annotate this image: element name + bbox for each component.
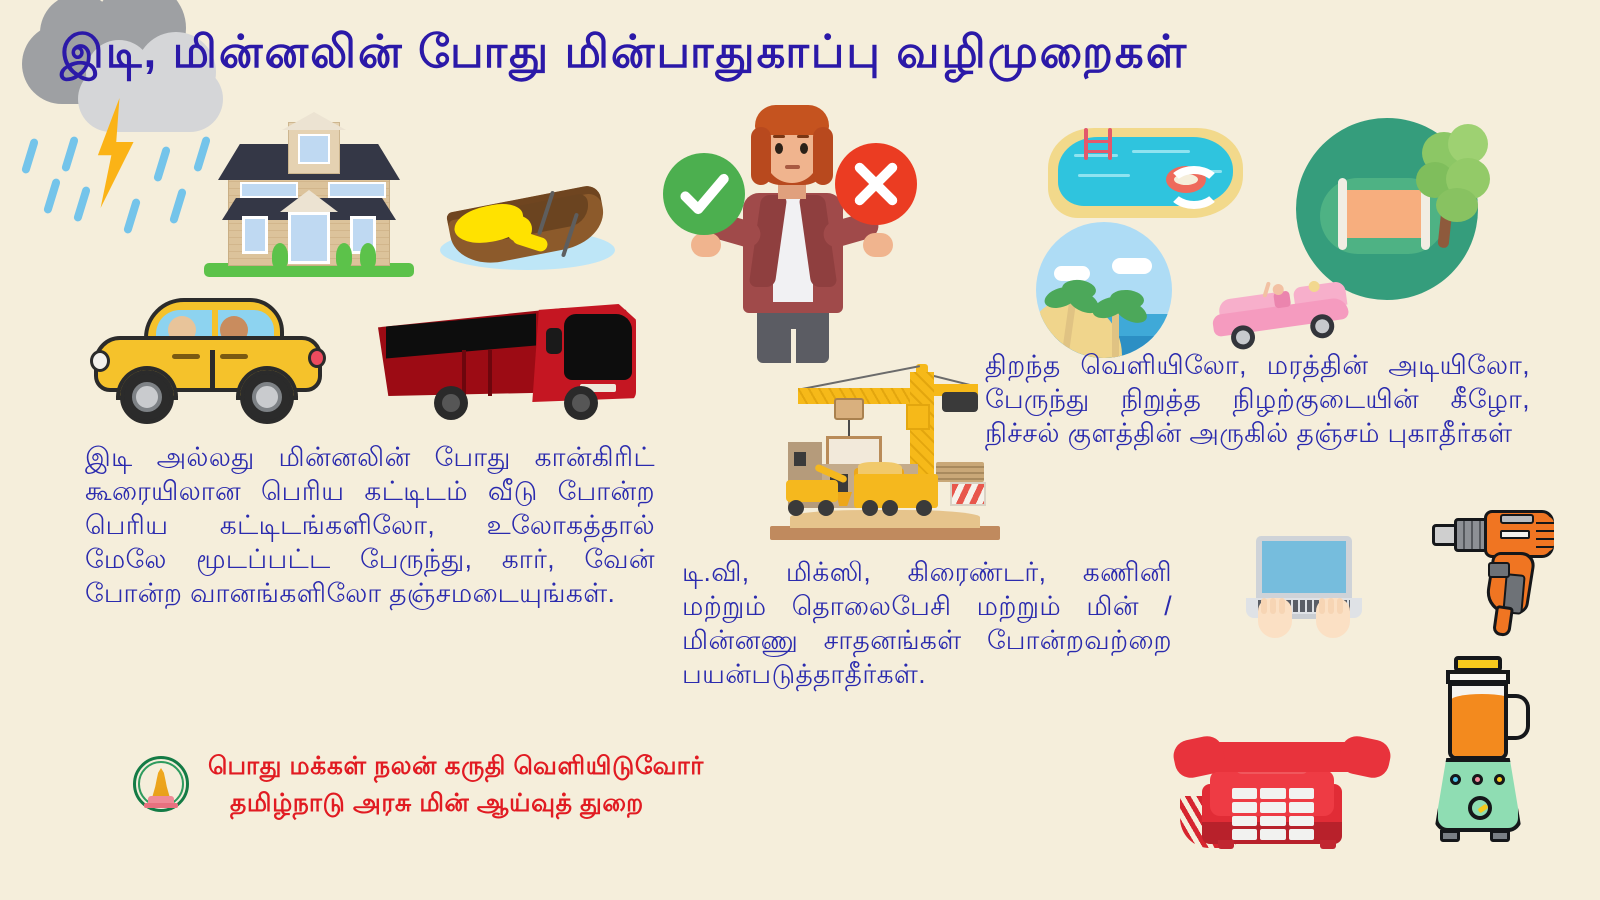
excavator-body xyxy=(786,480,838,502)
phone-key xyxy=(1289,829,1314,840)
rowboat-illustration xyxy=(440,178,615,278)
finger xyxy=(1270,598,1276,614)
raindrop xyxy=(43,178,61,215)
bush xyxy=(272,243,288,269)
hand-right xyxy=(1316,598,1350,638)
crane-tie-front xyxy=(802,365,920,390)
finger xyxy=(1261,598,1267,614)
building-window xyxy=(794,452,806,466)
excavator-track-wheel xyxy=(788,500,804,516)
construction-site-illustration xyxy=(770,358,1000,540)
phone-foot xyxy=(1218,840,1234,849)
woman-hair-side-left xyxy=(751,127,771,185)
dormer-window xyxy=(298,134,330,164)
woman-eyebrow-right xyxy=(797,135,809,138)
bush xyxy=(360,243,376,269)
red-bus-illustration xyxy=(378,298,640,420)
blender-illustration xyxy=(1420,656,1540,856)
bus-wheel-rear xyxy=(434,386,468,420)
blender-handle xyxy=(1504,694,1530,740)
pink-convertible-illustration xyxy=(1208,273,1351,353)
phone-key xyxy=(1260,829,1285,840)
footer: பொது மக்கள் நலன் கருதி வெளியிடுவோர் தமிழ… xyxy=(130,748,704,822)
shelter-canopy xyxy=(1338,190,1430,238)
truck-wheel xyxy=(882,500,898,516)
finger xyxy=(1337,598,1343,614)
footer-line-1: பொது மக்கள் நலன் கருதி வெளியிடுவோர் xyxy=(208,748,704,785)
swimming-pool-illustration xyxy=(1048,128,1243,218)
blender-knob xyxy=(1468,796,1492,820)
car-wheel-rear xyxy=(240,370,294,424)
material-stack xyxy=(936,462,984,482)
footer-text: பொது மக்கள் நலன் கருதி வெளியிடுவோர் தமிழ… xyxy=(208,748,704,822)
drill-vents xyxy=(1536,516,1554,552)
car-wheel-front xyxy=(120,370,174,424)
page-title: இடி, மின்னலின் போது மின்பாதுகாப்பு வழிமு… xyxy=(60,26,1560,84)
power-drill-illustration xyxy=(1432,500,1560,640)
drill-top-trim xyxy=(1500,514,1534,524)
bush xyxy=(336,243,352,269)
construction-ground xyxy=(770,526,1000,540)
window-left xyxy=(242,216,268,254)
beach-cloud xyxy=(1054,266,1090,281)
drill-cord-base xyxy=(1492,605,1514,637)
emblem-plinth xyxy=(144,803,178,808)
woman-eyebrow-left xyxy=(773,135,785,138)
check-circle-icon xyxy=(663,153,745,235)
dormer-roof xyxy=(282,112,346,130)
laptop-illustration xyxy=(1244,536,1364,636)
blender-foot xyxy=(1490,830,1510,842)
phone-key xyxy=(1232,829,1257,840)
woman-hair-side-right xyxy=(813,127,833,185)
bus-door-edge-right xyxy=(488,350,492,396)
telephone-illustration xyxy=(1174,718,1390,868)
beach-cloud xyxy=(1112,258,1152,274)
raindrop xyxy=(73,186,91,223)
tamil-nadu-emblem-icon xyxy=(130,749,192,821)
car-taillight xyxy=(308,348,326,368)
front-door xyxy=(288,212,330,264)
park-shelter-illustration xyxy=(1296,118,1478,300)
bus-wheel-front xyxy=(564,386,598,420)
blender-indicator xyxy=(1472,774,1483,785)
paragraph-shelter: இடி அல்லது மின்னலின் போது கான்கிரிட் கூர… xyxy=(85,440,655,610)
phone-key xyxy=(1289,788,1314,799)
truck-wheel xyxy=(862,500,878,516)
finger xyxy=(1279,598,1285,614)
drill-label xyxy=(1500,530,1530,539)
woman-hand-right xyxy=(863,233,893,257)
phone-key xyxy=(1289,802,1314,813)
blender-foot xyxy=(1440,830,1460,842)
car-headlight xyxy=(90,350,110,372)
phone-key xyxy=(1289,816,1314,827)
blender-indicator xyxy=(1494,774,1505,785)
phone-handset-mouthpiece xyxy=(1337,733,1394,781)
raindrop xyxy=(123,198,141,235)
phone-key xyxy=(1260,816,1285,827)
blender-jar xyxy=(1448,682,1508,760)
paragraph-avoid-appliances: டி.வி, மிக்ஸி, கிரைண்டர், கணினி மற்றும் … xyxy=(682,555,1172,691)
ladder-rail-left xyxy=(1084,128,1088,160)
phone-key xyxy=(1260,802,1285,813)
bus-mirror xyxy=(546,328,562,354)
car-door-handle-front xyxy=(172,354,200,359)
pool-ladder xyxy=(1084,128,1112,160)
ladder-step xyxy=(1084,150,1112,153)
upper-window-band-left xyxy=(240,182,298,198)
phone-key xyxy=(1232,788,1257,799)
crane-operator-cabin xyxy=(906,404,930,430)
truck-wheel xyxy=(916,500,932,516)
car-door-line xyxy=(210,350,215,392)
road-barrier xyxy=(950,482,986,506)
phone-keypad xyxy=(1232,788,1314,840)
excavator-track-wheel xyxy=(818,500,834,516)
car-door-handle-rear xyxy=(220,354,248,359)
woman-hand-left xyxy=(691,233,721,257)
laptop-screen xyxy=(1262,541,1346,593)
crane-counterweight xyxy=(942,392,978,412)
crane-hook-block xyxy=(834,398,864,420)
blender-base xyxy=(1434,758,1522,832)
cross-circle-icon xyxy=(835,143,917,225)
blender-indicator xyxy=(1450,774,1461,785)
pool-wave xyxy=(1078,174,1130,177)
raindrop xyxy=(169,188,187,225)
drill-chuck xyxy=(1454,518,1488,552)
poster-canvas: இடி, மின்னலின் போது மின்பாதுகாப்பு வழிமு… xyxy=(0,0,1600,900)
upper-window-band-right xyxy=(328,182,386,198)
finger xyxy=(1319,598,1325,614)
lifebuoy-icon xyxy=(1166,166,1206,193)
bus-door-edge-left xyxy=(462,350,466,396)
finger xyxy=(1328,598,1334,614)
laptop-trackpad xyxy=(1290,614,1318,619)
footer-line-2: தமிழ்நாடு அரசு மின் ஆய்வுத் துறை xyxy=(208,785,704,822)
yellow-car-illustration xyxy=(88,292,330,420)
woman-choice-illustration xyxy=(655,105,925,365)
house-illustration xyxy=(200,112,418,277)
phone-key xyxy=(1232,816,1257,827)
woman-eye-right xyxy=(800,143,808,154)
blender-contents xyxy=(1450,702,1508,760)
hand-left xyxy=(1258,598,1292,638)
pool-wave xyxy=(1132,150,1190,153)
drill-trigger xyxy=(1488,562,1510,578)
raindrop xyxy=(61,136,79,173)
phone-foot xyxy=(1320,840,1336,849)
tree-foliage xyxy=(1436,188,1478,222)
beach-circle-illustration xyxy=(1036,222,1172,358)
ladder-rail-right xyxy=(1108,128,1112,160)
woman-mouth xyxy=(785,165,800,169)
phone-key xyxy=(1260,788,1285,799)
paragraph-avoid-outdoors: திறந்த வெளியிலோ, மரத்தின் அடியிலோ, பேருந… xyxy=(985,348,1530,450)
raindrop xyxy=(21,138,39,175)
bus-windshield xyxy=(564,314,632,380)
shelter-post-left xyxy=(1338,178,1347,250)
ladder-step xyxy=(1084,140,1112,143)
raindrop xyxy=(153,146,171,183)
woman-eye-left xyxy=(775,143,783,154)
phone-key xyxy=(1232,802,1257,813)
